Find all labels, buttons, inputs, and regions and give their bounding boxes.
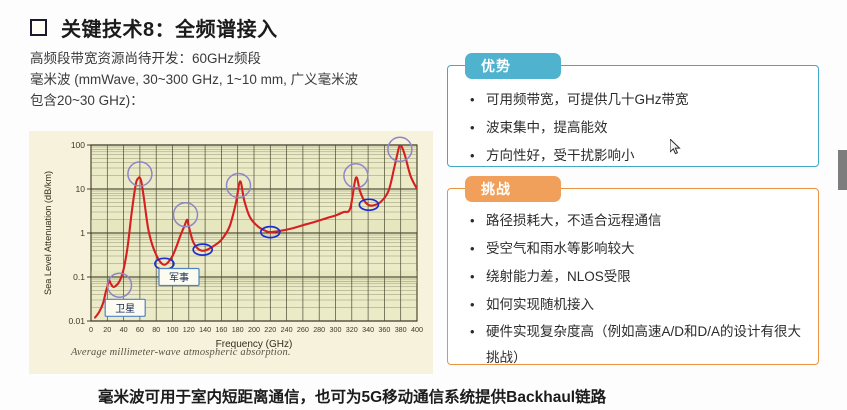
chart-label-military: 军事 (159, 269, 199, 286)
svg-text:100: 100 (167, 325, 179, 334)
svg-text:10: 10 (76, 184, 86, 194)
chart-label-satellite: 卫星 (105, 299, 145, 316)
advantage-item: 方向性好，受干扰影响小 (470, 142, 808, 170)
svg-text:0.01: 0.01 (68, 316, 85, 326)
chart-xtick-labels: 0204060801001201401601802002202402602803… (89, 325, 423, 334)
advantage-item: 可用频带宽，可提供几十GHz带宽 (470, 86, 808, 114)
intro-line-3: 包含20~30 GHz)： (30, 90, 440, 111)
svg-text:260: 260 (297, 325, 309, 334)
svg-text:20: 20 (103, 325, 111, 334)
advantage-item: 波束集中，提高能效 (470, 114, 808, 142)
svg-text:320: 320 (346, 325, 358, 334)
svg-text:360: 360 (378, 325, 390, 334)
challenge-item: 如何实现随机接入 (470, 291, 808, 319)
svg-text:380: 380 (395, 325, 407, 334)
square-outline-icon (30, 19, 47, 36)
svg-text:60: 60 (136, 325, 144, 334)
svg-text:1: 1 (80, 228, 85, 238)
svg-text:卫星: 卫星 (115, 303, 135, 315)
chart-yaxis-title: Sea Level Attenuation (dB/km) (43, 171, 53, 295)
advantages-bullet-list: 可用频带宽，可提供几十GHz带宽波束集中，提高能效方向性好，受干扰影响小 (470, 86, 808, 170)
svg-text:300: 300 (330, 325, 342, 334)
svg-text:140: 140 (199, 325, 211, 334)
svg-text:160: 160 (215, 325, 227, 334)
svg-text:180: 180 (232, 325, 244, 334)
intro-paragraph: 高频段带宽资源尚待开发：60GHz频段 毫米波 (mmWave, 30~300 … (30, 48, 440, 111)
challenges-bullet-list: 路径损耗大，不适合远程通信受空气和雨水等影响较大绕射能力差，NLOS受限如何实现… (470, 207, 808, 371)
challenge-item: 绕射能力差，NLOS受限 (470, 263, 808, 291)
advantages-callout-box: 优势 可用频带宽，可提供几十GHz带宽波束集中，提高能效方向性好，受干扰影响小 (447, 65, 819, 167)
challenges-tab-label: 挑战 (465, 176, 561, 202)
bottom-summary-text: 毫米波可用于室内短距离通信，也可为5G移动通信系统提供Backhaul链路 (98, 385, 606, 407)
svg-text:200: 200 (248, 325, 260, 334)
svg-text:240: 240 (281, 325, 293, 334)
svg-text:0.1: 0.1 (73, 272, 85, 282)
scrollbar-thumb[interactable] (838, 150, 847, 190)
intro-line-1: 高频段带宽资源尚待开发：60GHz频段 (30, 48, 440, 69)
svg-text:40: 40 (120, 325, 128, 334)
svg-text:340: 340 (362, 325, 374, 334)
svg-text:400: 400 (411, 325, 423, 334)
svg-text:100: 100 (71, 140, 85, 150)
svg-text:军事: 军事 (169, 271, 189, 284)
svg-text:0: 0 (89, 325, 93, 334)
attenuation-chart-svg: 0204060801001201401601802002202402602803… (29, 131, 433, 374)
attenuation-chart-figure: 0204060801001201401601802002202402602803… (29, 131, 433, 374)
svg-text:120: 120 (183, 325, 195, 334)
intro-line-2: 毫米波 (mmWave, 30~300 GHz, 1~10 mm, 广义毫米波 (30, 69, 440, 90)
challenges-callout-box: 挑战 路径损耗大，不适合远程通信受空气和雨水等影响较大绕射能力差，NLOS受限如… (447, 188, 819, 365)
svg-text:80: 80 (152, 325, 160, 334)
challenge-item: 硬件实现复杂度高（例如高速A/D和D/A的设计有很大挑战） (470, 319, 808, 371)
chart-caption: Average millimeter-wave atmospheric abso… (71, 347, 291, 358)
svg-text:220: 220 (264, 325, 276, 334)
challenge-item: 受空气和雨水等影响较大 (470, 235, 808, 263)
challenge-item: 路径损耗大，不适合远程通信 (470, 207, 808, 235)
advantages-tab-label: 优势 (465, 53, 561, 79)
title-text: 关键技术8：全频谱接入 (61, 13, 278, 42)
svg-text:280: 280 (313, 325, 325, 334)
page-title: 关键技术8：全频谱接入 (30, 13, 278, 42)
